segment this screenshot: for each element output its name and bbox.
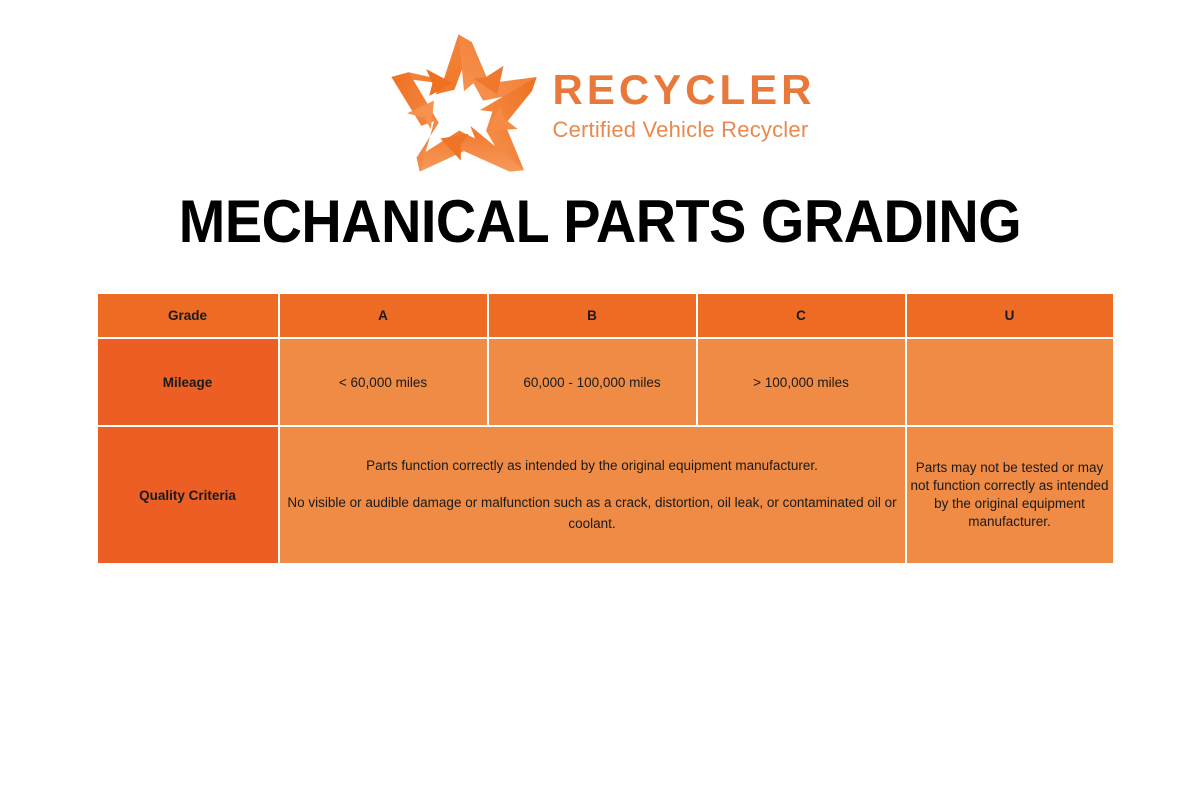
column-header-c: C (698, 294, 905, 337)
mileage-grade-u (907, 339, 1113, 425)
table-row-mileage: Mileage < 60,000 miles 60,000 - 100,000 … (98, 339, 1113, 425)
row-label-quality-criteria: Quality Criteria (98, 427, 278, 563)
mechanical-parts-grading-table: Grade A B C U Mileage < 60,000 miles 60,… (96, 292, 1115, 565)
table-header-row: Grade A B C U (98, 294, 1113, 337)
row-label-mileage: Mileage (98, 339, 278, 425)
column-header-a: A (280, 294, 487, 337)
brand-name: RECYCLER (552, 68, 815, 112)
logo-wordmark: RECYCLER Certified Vehicle Recycler (552, 62, 815, 145)
brand-header: RECYCLER Certified Vehicle Recycler (0, 0, 1200, 178)
recycling-star-icon (384, 28, 544, 178)
column-header-u: U (907, 294, 1113, 337)
column-header-grade: Grade (98, 294, 278, 337)
logo-lockup: RECYCLER Certified Vehicle Recycler (384, 28, 815, 178)
quality-criteria-grades-abc: Parts function correctly as intended by … (280, 427, 905, 563)
quality-criteria-paragraph-1: Parts function correctly as intended by … (280, 456, 905, 477)
column-header-b: B (489, 294, 696, 337)
mileage-grade-a: < 60,000 miles (280, 339, 487, 425)
mileage-grade-b: 60,000 - 100,000 miles (489, 339, 696, 425)
quality-criteria-grade-u: Parts may not be tested or may not funct… (907, 427, 1113, 563)
grading-table-container: Grade A B C U Mileage < 60,000 miles 60,… (96, 292, 1105, 565)
brand-tagline: Certified Vehicle Recycler (552, 116, 815, 145)
quality-criteria-paragraph-2: No visible or audible damage or malfunct… (280, 493, 905, 535)
table-row-quality-criteria: Quality Criteria Parts function correctl… (98, 427, 1113, 563)
page-title: MECHANICAL PARTS GRADING (42, 192, 1158, 252)
mileage-grade-c: > 100,000 miles (698, 339, 905, 425)
